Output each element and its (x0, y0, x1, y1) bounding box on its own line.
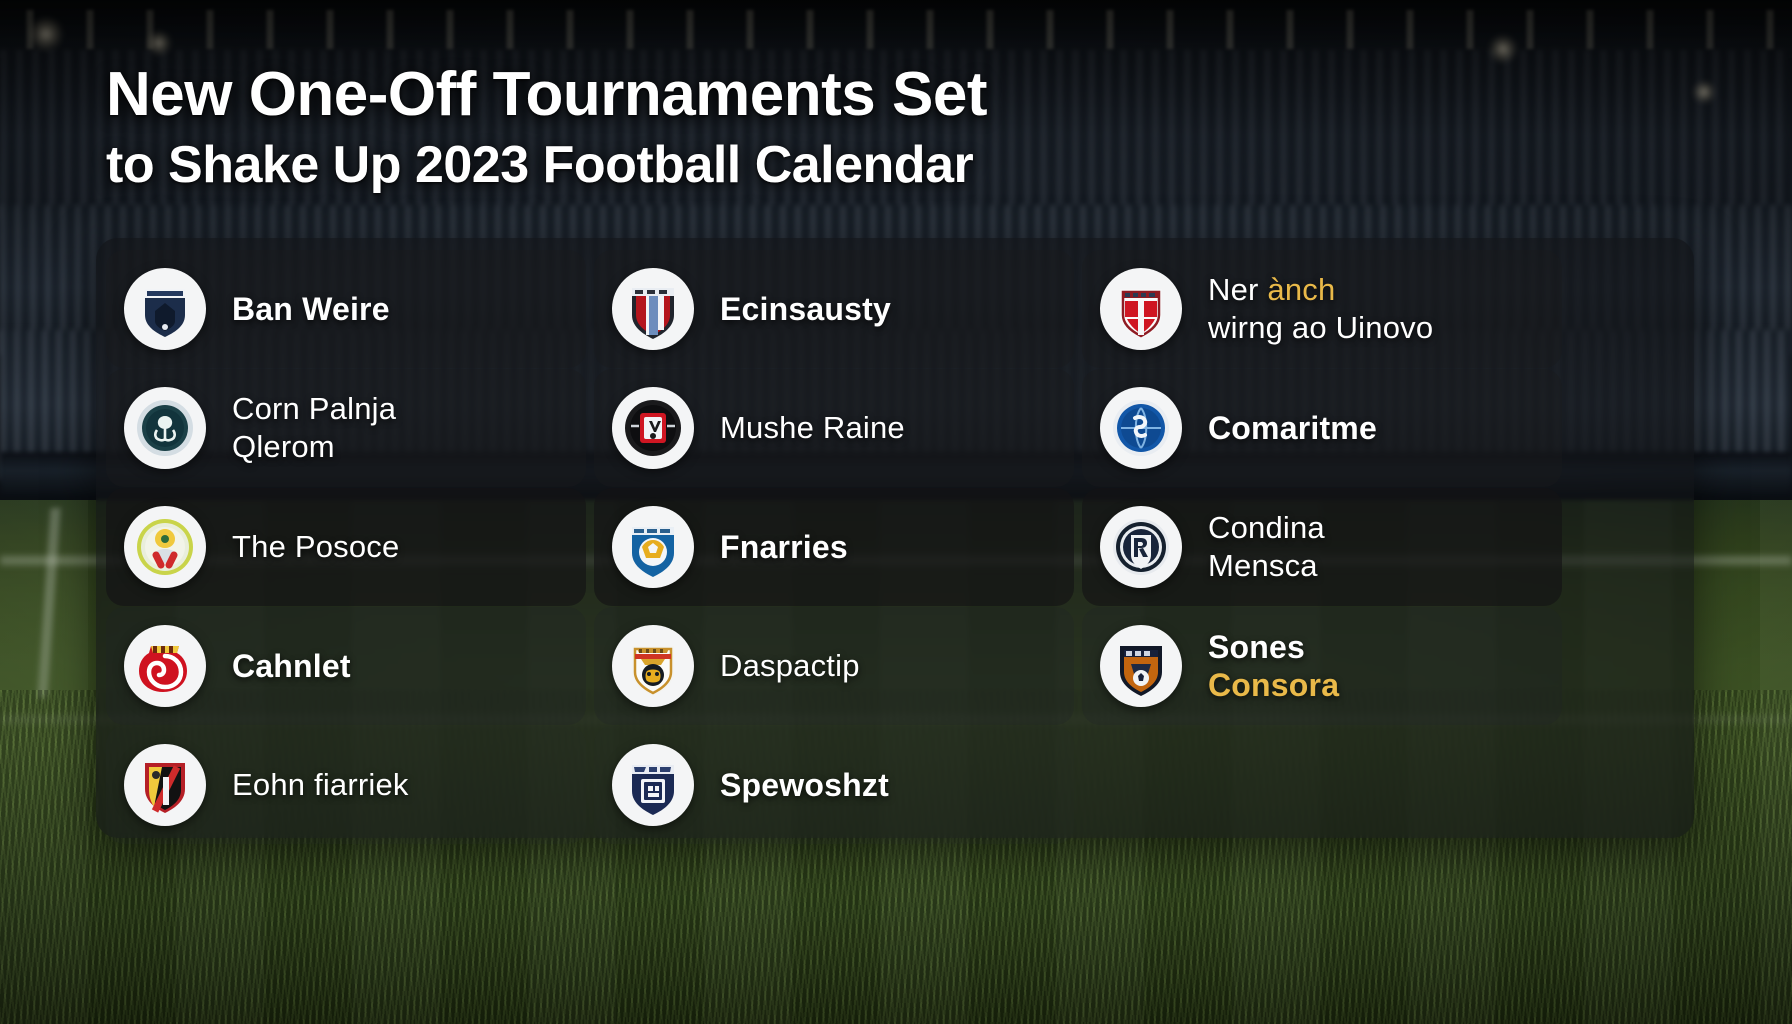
tournament-label-accent: ànch (1267, 272, 1335, 307)
tournament-label: Comaritme (1208, 409, 1377, 447)
tournament-row[interactable]: Corn PalnjaQlerom (106, 369, 586, 487)
tournament-grid: Ban Weire Corn PalnjaQlerom The Posoce C… (106, 250, 1684, 826)
tournament-row[interactable]: Mushe Raine (594, 369, 1074, 487)
navy-shield-crest-icon (124, 268, 206, 350)
tournament-label: Mushe Raine (720, 409, 905, 447)
tournament-label-line: Mushe Raine (720, 409, 905, 447)
tournament-row[interactable]: SonesConsora (1082, 607, 1562, 725)
column-2: Ecinsausty Mushe Raine Fnarries Daspacti… (594, 250, 1074, 845)
tournament-label-line: The Posoce (232, 528, 399, 566)
column-3: Ner ànchwirng ao Uinovo Comaritme Condin… (1082, 250, 1562, 845)
tournament-label-line: Consora (1208, 666, 1339, 704)
red-white-cross-shield-crest-icon (1100, 268, 1182, 350)
dark-monogram-roundel-crest-icon (1100, 506, 1182, 588)
red-white-stripe-shield-crest-icon (612, 268, 694, 350)
tournament-panel: Ban Weire Corn PalnjaQlerom The Posoce C… (96, 238, 1694, 838)
tournament-row[interactable]: Eohn fiarriek (106, 726, 586, 844)
tournament-label: Ner ànchwirng ao Uinovo (1208, 271, 1433, 347)
tournament-row[interactable]: Spewoshzt (594, 726, 1074, 844)
navy-book-shield-crest-icon (612, 744, 694, 826)
tournament-row[interactable]: Cahnlet (106, 607, 586, 725)
tournament-label: Cahnlet (232, 647, 351, 685)
tournament-label-line: Spewoshzt (720, 766, 889, 804)
tournament-label-line: Sones (1208, 628, 1339, 666)
column-1: Ban Weire Corn PalnjaQlerom The Posoce C… (106, 250, 586, 845)
teal-rose-roundel-crest-icon (124, 387, 206, 469)
tournament-label-line: Ban Weire (232, 290, 390, 328)
tournament-label: Corn PalnjaQlerom (232, 390, 396, 466)
tournament-row[interactable]: Fnarries (594, 488, 1074, 606)
tournament-label: Fnarries (720, 528, 848, 566)
tournament-label: Ecinsausty (720, 290, 891, 328)
tournament-label-line: Fnarries (720, 528, 848, 566)
tournament-label-line: Comaritme (1208, 409, 1377, 447)
tournament-label: SonesConsora (1208, 628, 1339, 704)
tournament-row[interactable]: Ner ànchwirng ao Uinovo (1082, 250, 1562, 368)
tournament-label: Ban Weire (232, 290, 390, 328)
tournament-row[interactable]: CondinaMensca (1082, 488, 1562, 606)
tournament-row[interactable]: Daspactip (594, 607, 1074, 725)
green-yellow-roundel-crest-icon (124, 506, 206, 588)
blue-globe-roundel-crest-icon (1100, 387, 1182, 469)
tournament-label: Spewoshzt (720, 766, 889, 804)
page-title: New One-Off Tournaments Set to Shake Up … (106, 58, 1546, 198)
tournament-row[interactable]: Ban Weire (106, 250, 586, 368)
tournament-label-line: wirng ao Uinovo (1208, 309, 1433, 347)
tournament-label: CondinaMensca (1208, 509, 1325, 585)
blue-ball-shield-crest-icon (612, 506, 694, 588)
tournament-label: The Posoce (232, 528, 399, 566)
tournament-label-line: Ecinsausty (720, 290, 891, 328)
gold-eagle-shield-crest-icon (612, 625, 694, 707)
tournament-label-line: Corn Palnja (232, 390, 396, 428)
tournament-label-line: Condina (1208, 509, 1325, 547)
red-spiral-crest-icon (124, 625, 206, 707)
tournament-label: Daspactip (720, 647, 860, 685)
tournament-label-line: Ner ànch (1208, 271, 1433, 309)
tournament-label-accent: Consora (1208, 667, 1339, 703)
tournament-row[interactable]: Ecinsausty (594, 250, 1074, 368)
amber-navy-shield-crest-icon (1100, 625, 1182, 707)
black-red-roundel-crest-icon (612, 387, 694, 469)
tournament-label-line: Mensca (1208, 547, 1325, 585)
tournament-row[interactable]: Comaritme (1082, 369, 1562, 487)
tournament-label: Eohn fiarriek (232, 766, 409, 804)
tournament-label-line: Daspactip (720, 647, 860, 685)
tournament-label-line: Qlerom (232, 428, 396, 466)
page-title-line-2: to Shake Up 2023 Football Calendar (106, 132, 1546, 198)
tournament-row[interactable]: The Posoce (106, 488, 586, 606)
black-yellow-red-shield-crest-icon (124, 744, 206, 826)
page-title-line-1: New One-Off Tournaments Set (106, 58, 1546, 132)
tournament-label-line: Cahnlet (232, 647, 351, 685)
tournament-label-line: Eohn fiarriek (232, 766, 409, 804)
tournament-label-text: Ner (1208, 272, 1267, 307)
